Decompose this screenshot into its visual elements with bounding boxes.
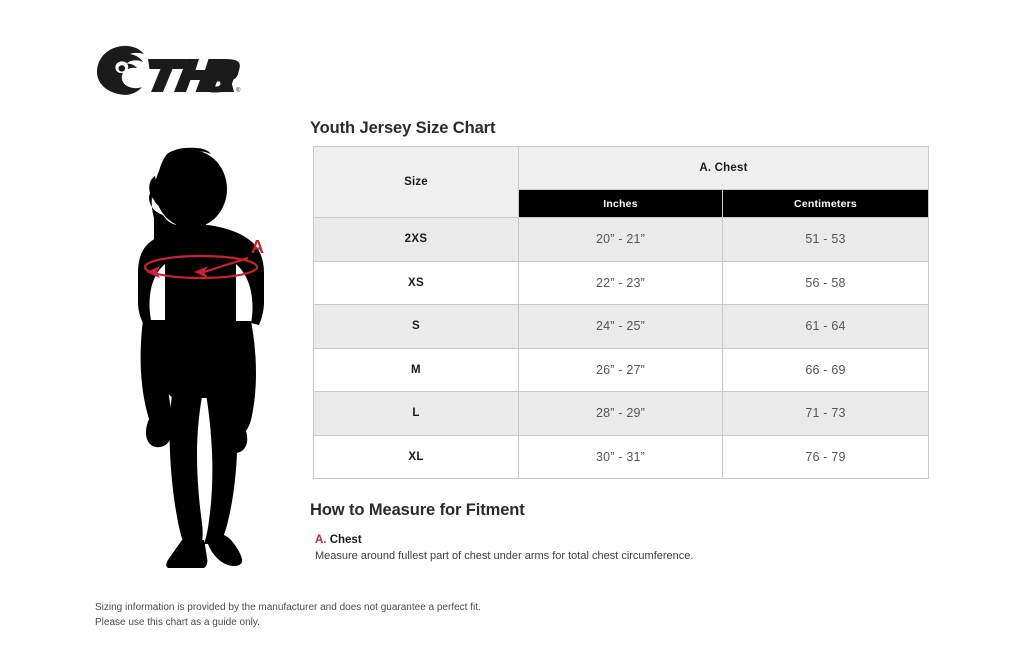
table-header-row-1: Size A. Chest: [314, 147, 929, 190]
callout-label-a: A: [251, 237, 264, 257]
column-header-size: Size: [314, 147, 519, 218]
trademark-symbol: ®: [236, 87, 241, 94]
cell-centimeters: 61 - 64: [723, 305, 929, 349]
table-row: 2XS 20” - 21” 51 - 53: [314, 218, 929, 262]
column-header-inches: Inches: [519, 190, 723, 218]
disclaimer: Sizing information is provided by the ma…: [95, 601, 615, 630]
how-to-measure-title: How to Measure for Fitment: [310, 501, 525, 520]
cell-size: XS: [314, 261, 519, 305]
cell-size: S: [314, 305, 519, 349]
disclaimer-line-1: Sizing information is provided by the ma…: [95, 601, 615, 616]
measure-item-name: Chest: [330, 534, 362, 546]
cell-centimeters: 76 - 79: [723, 435, 929, 479]
cell-inches: 24” - 25”: [519, 305, 723, 349]
table-body: 2XS 20” - 21” 51 - 53 XS 22” - 23” 56 - …: [314, 218, 929, 479]
cell-inches: 26” - 27”: [519, 348, 723, 392]
measure-item-key: A.: [315, 534, 327, 546]
cell-inches: 28” - 29”: [519, 392, 723, 436]
thor-logo: ®: [95, 42, 245, 98]
cell-size: XL: [314, 435, 519, 479]
page-title: Youth Jersey Size Chart: [310, 119, 495, 138]
table-row: L 28” - 29” 71 - 73: [314, 392, 929, 436]
cell-centimeters: 51 - 53: [723, 218, 929, 262]
table-row: M 26” - 27” 66 - 69: [314, 348, 929, 392]
disclaimer-line-2: Please use this chart as a guide only.: [95, 616, 615, 631]
cell-inches: 22” - 23”: [519, 261, 723, 305]
cell-size: M: [314, 348, 519, 392]
table-row: XL 30” - 31” 76 - 79: [314, 435, 929, 479]
size-chart-table: Size A. Chest Inches Centimeters 2XS 20”…: [313, 146, 929, 479]
cell-size: L: [314, 392, 519, 436]
size-chart-page: ®: [0, 0, 1024, 666]
table-row: S 24” - 25” 61 - 64: [314, 305, 929, 349]
thor-wordmark: [148, 59, 240, 93]
youth-figure-illustration: A: [96, 132, 296, 570]
cell-centimeters: 66 - 69: [723, 348, 929, 392]
cell-inches: 30” - 31”: [519, 435, 723, 479]
cell-size: 2XS: [314, 218, 519, 262]
cell-centimeters: 71 - 73: [723, 392, 929, 436]
cell-inches: 20” - 21”: [519, 218, 723, 262]
thor-helmet-icon: [97, 46, 144, 95]
measure-item-description: Measure around fullest part of chest und…: [315, 549, 875, 563]
how-to-measure-list: A. Chest Measure around fullest part of …: [315, 533, 875, 563]
measure-item-heading: A. Chest: [315, 533, 875, 547]
column-header-chest-group: A. Chest: [519, 147, 929, 190]
youth-body-silhouette: [138, 148, 264, 568]
table-head: Size A. Chest Inches Centimeters: [314, 147, 929, 218]
column-header-centimeters: Centimeters: [723, 190, 929, 218]
cell-centimeters: 56 - 58: [723, 261, 929, 305]
table-row: XS 22” - 23” 56 - 58: [314, 261, 929, 305]
